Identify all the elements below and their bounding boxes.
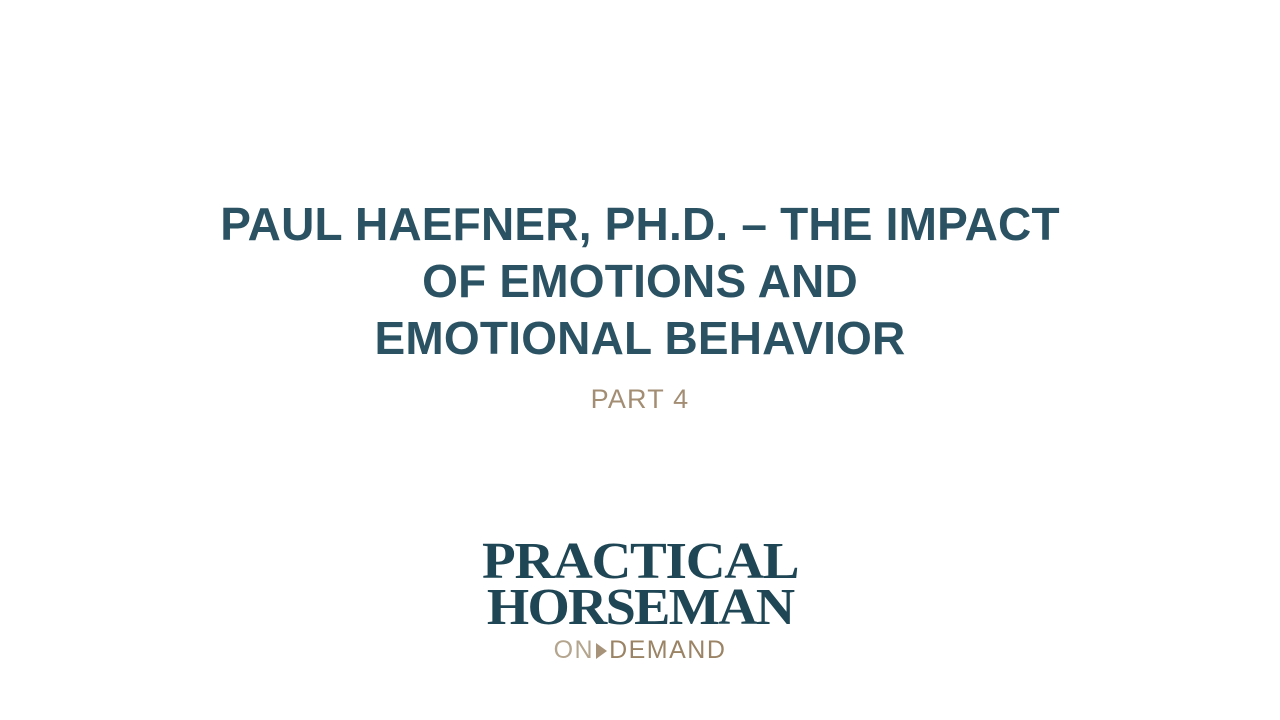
title-line-1: PAUL HAEFNER, PH.D. – THE IMPACT [0,196,1280,253]
logo-on-text: ON [554,638,595,663]
logo-wordmark-horseman: HORSEMAN [484,585,796,631]
logo-on-demand: ON DEMAND [491,638,789,663]
title-line-2: OF EMOTIONS AND [0,253,1280,310]
play-triangle-icon [596,643,607,659]
slide-title: PAUL HAEFNER, PH.D. – THE IMPACT OF EMOT… [0,196,1280,367]
logo-demand-text: DEMAND [609,638,726,663]
practical-horseman-on-demand-logo: PRACTICAL HORSEMAN ON DEMAND [0,540,1280,663]
logo-inner: PRACTICAL HORSEMAN ON DEMAND [491,540,789,663]
logo-wordmark-practical: PRACTICAL [482,540,798,584]
part-label: PART 4 [0,383,1280,415]
title-line-3: EMOTIONAL BEHAVIOR [0,310,1280,367]
title-slide: PAUL HAEFNER, PH.D. – THE IMPACT OF EMOT… [0,0,1280,720]
